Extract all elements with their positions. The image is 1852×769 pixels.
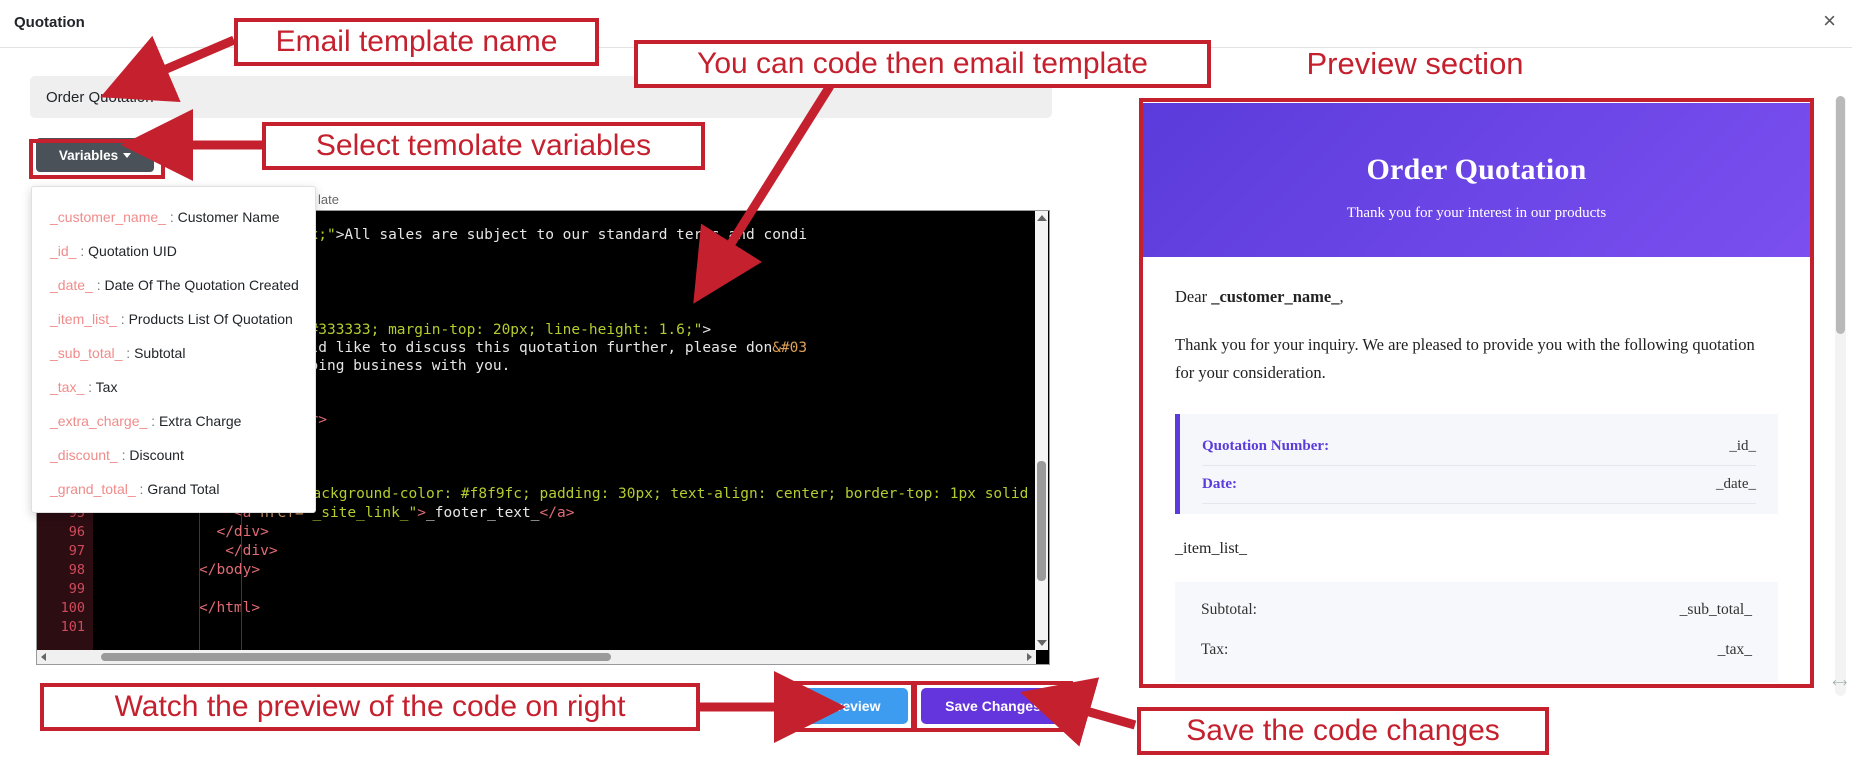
variable-separator: : — [166, 209, 178, 225]
code-token: > — [702, 322, 711, 338]
page-title: Quotation — [14, 14, 85, 31]
preview-scroll-thumb[interactable] — [1836, 96, 1845, 334]
annotation-select-variables: Select temolate variables — [262, 122, 705, 170]
preview-total-value: _sub_total_ — [1680, 601, 1752, 619]
variable-key: _sub_total_ — [50, 345, 122, 361]
variables-button-label: Variables — [59, 148, 118, 163]
variable-description: Products List Of Quotation — [129, 311, 293, 327]
quotation-email-template-modal: Quotation × Variables 949596979899100101… — [0, 0, 1852, 769]
variable-key: _grand_total_ — [50, 481, 136, 497]
variable-separator: : — [118, 447, 130, 463]
variable-key: _item_list_ — [50, 311, 117, 327]
code-token: </div> — [199, 524, 269, 540]
annotation-code-template: You can code then email template — [634, 40, 1211, 88]
scroll-right-arrow-icon[interactable] — [1027, 653, 1032, 661]
code-line: <div style="background-color: #f8f9fc; p… — [199, 485, 1035, 503]
variable-item-subtotal[interactable]: _sub_total_ : Subtotal — [32, 336, 315, 370]
line-number: 101 — [61, 618, 85, 636]
code-token: "background-color: #f8f9fc; padding: 30p… — [295, 486, 1035, 502]
variable-description: Date Of The Quotation Created — [105, 277, 299, 293]
preview-info-label: Date: — [1202, 476, 1237, 493]
variable-description: Quotation UID — [88, 243, 177, 259]
preview-total-row: Subtotal:_sub_total_ — [1201, 590, 1752, 630]
resize-grip-icon[interactable]: ⤢ — [1829, 673, 1849, 693]
preview-total-row: Tax:_tax_ — [1201, 630, 1752, 670]
annotation-watch-preview: Watch the preview of the code on right — [40, 683, 700, 731]
preview-totals-box: Subtotal:_sub_total_Tax:_tax_ — [1175, 582, 1778, 682]
variable-item-grandtotal[interactable]: _grand_total_ : Grand Total — [32, 472, 315, 506]
preview-total-label: Tax: — [1201, 641, 1228, 659]
scroll-up-arrow-icon[interactable] — [1037, 215, 1047, 221]
variable-key: _extra_charge_ — [50, 413, 147, 429]
preview-body: Dear _customer_name_, Thank you for your… — [1143, 257, 1810, 682]
variable-key: _date_ — [50, 277, 93, 293]
close-icon[interactable]: × — [1823, 10, 1836, 32]
code-line: </div> — [199, 542, 278, 560]
annotation-preview-section: Preview section — [1285, 40, 1545, 88]
code-token: </div> — [199, 543, 278, 559]
save-changes-button[interactable]: Save Changes — [921, 688, 1065, 724]
variable-separator: : — [147, 413, 159, 429]
code-token: _footer_text_ — [426, 505, 540, 521]
variable-description: Discount — [129, 447, 183, 463]
variable-item-extracharge[interactable]: _extra_charge_ : Extra Charge — [32, 404, 315, 438]
preview-item-list: _item_list_ — [1175, 540, 1778, 558]
greeting-variable: _customer_name_ — [1211, 287, 1339, 306]
preview-scrollbar[interactable] — [1835, 96, 1846, 696]
scroll-left-arrow-icon[interactable] — [41, 653, 46, 661]
greeting-prefix: Dear — [1175, 287, 1211, 306]
variable-description: Customer Name — [178, 209, 280, 225]
code-line: </div> — [199, 523, 269, 541]
variable-item-tax[interactable]: _tax_ : Tax — [32, 370, 315, 404]
line-number: 100 — [61, 599, 85, 617]
preview-info-label: Quotation Number: — [1202, 438, 1329, 455]
preview-greeting: Dear _customer_name_, — [1175, 287, 1778, 307]
preview-hero-title: Order Quotation — [1143, 153, 1810, 187]
code-token: >All sales are subject to our standard t… — [336, 227, 807, 243]
editor-scroll-corner — [1036, 650, 1049, 664]
line-number: 99 — [69, 580, 85, 598]
variable-separator: : — [136, 481, 148, 497]
preview-info-value: _date_ — [1716, 476, 1756, 493]
email-preview-panel: Order Quotation Thank you for your inter… — [1143, 103, 1810, 685]
variable-separator: : — [76, 243, 88, 259]
variable-separator: : — [84, 379, 95, 395]
variable-item-id[interactable]: _id_ : Quotation UID — [32, 234, 315, 268]
variable-key: _customer_name_ — [50, 209, 166, 225]
editor-vertical-thumb[interactable] — [1037, 461, 1046, 581]
variable-item-date[interactable]: _date_ : Date Of The Quotation Created — [32, 268, 315, 302]
variable-key: _id_ — [50, 243, 76, 259]
line-number: 96 — [69, 523, 85, 541]
variable-description: Extra Charge — [159, 413, 241, 429]
line-number: 97 — [69, 542, 85, 560]
variable-description: Tax — [96, 379, 118, 395]
preview-info-value: _id_ — [1729, 438, 1756, 455]
chevron-down-icon — [123, 153, 131, 158]
variable-item-itemlist[interactable]: _item_list_ : Products List Of Quotation — [32, 302, 315, 336]
code-token: > — [417, 505, 426, 521]
code-token: "_site_link_" — [304, 505, 418, 521]
preview-info-row: Date:_date_ — [1202, 466, 1756, 504]
variable-item-customername[interactable]: _customer_name_ : Customer Name — [32, 200, 315, 234]
preview-total-value: _tax_ — [1718, 641, 1752, 659]
code-token: </body> — [199, 562, 260, 578]
variable-key: _tax_ — [50, 379, 84, 395]
variables-dropdown-button[interactable]: Variables — [36, 138, 154, 172]
code-line: </html> — [199, 599, 260, 617]
variable-description: Grand Total — [147, 481, 219, 497]
annotation-save-code: Save the code changes — [1137, 707, 1549, 755]
variables-dropdown-menu[interactable]: _customer_name_ : Customer Name_id_ : Qu… — [31, 186, 316, 513]
preview-hero: Order Quotation Thank you for your inter… — [1143, 103, 1810, 257]
preview-info-box: Quotation Number:_id_Date:_date_ — [1175, 414, 1778, 514]
scroll-down-arrow-icon[interactable] — [1037, 640, 1047, 646]
code-token: </html> — [199, 600, 260, 616]
line-number: 98 — [69, 561, 85, 579]
variable-description: Subtotal — [134, 345, 185, 361]
variable-separator: : — [122, 345, 134, 361]
preview-button[interactable]: Preview — [800, 688, 908, 724]
preview-hero-subtitle: Thank you for your interest in our produ… — [1143, 205, 1810, 222]
code-token: </a> — [540, 505, 575, 521]
annotation-email-template-name: Email template name — [234, 18, 599, 66]
editor-section-label: late — [318, 192, 339, 207]
variable-item-discount[interactable]: _discount_ : Discount — [32, 438, 315, 472]
greeting-suffix: , — [1340, 287, 1344, 306]
editor-horizontal-scrollbar[interactable] — [37, 650, 1036, 664]
editor-vertical-scrollbar[interactable] — [1035, 211, 1048, 650]
editor-horizontal-thumb[interactable] — [101, 653, 611, 661]
preview-paragraph: Thank you for your inquiry. We are pleas… — [1175, 331, 1778, 386]
variable-separator: : — [93, 277, 105, 293]
code-line: </body> — [199, 561, 260, 579]
preview-total-label: Subtotal: — [1201, 601, 1257, 619]
variable-separator: : — [117, 311, 129, 327]
code-token: &#03 — [772, 340, 807, 356]
variable-key: _discount_ — [50, 447, 118, 463]
preview-info-row: Quotation Number:_id_ — [1202, 428, 1756, 466]
